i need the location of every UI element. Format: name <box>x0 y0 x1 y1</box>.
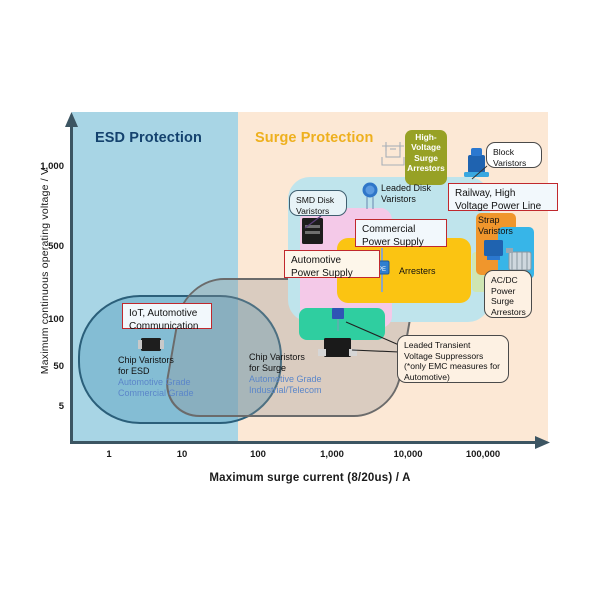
strap-varistors-label: Strap Varistors <box>478 215 518 237</box>
railway-high-voltage-power-line-box[interactable]: Railway, High Voltage Power Line <box>448 183 558 211</box>
green-cluster-blob <box>299 308 385 340</box>
x-tick-10000: 10,000 <box>378 449 438 460</box>
y-tick-5: 5 <box>18 401 64 412</box>
automotive-power-supply-box[interactable]: Automotive Power Supply <box>284 250 380 278</box>
chip-varistors-surge-label: Chip Varistors for Surge Automotive Grad… <box>249 352 361 396</box>
x-tick-100: 100 <box>228 449 288 460</box>
arresters-label: Arresters <box>399 266 436 277</box>
x-tick-1000: 1,000 <box>302 449 362 460</box>
esd-section-title: ESD Protection <box>95 130 202 146</box>
x-tick-100000: 100,000 <box>453 449 513 460</box>
smd-disk-varistors-callout[interactable]: SMD Disk Varistors <box>289 190 347 216</box>
hv-surge-arrestors-label: High- Voltage Surge Arrestors <box>405 132 447 173</box>
x-tick-10: 10 <box>152 449 212 460</box>
leaded-disk-varistors-label: Leaded Disk Varistors <box>381 183 443 205</box>
y-axis-title: Maximum continuous operating voltage / V <box>39 156 51 386</box>
diagram-canvas: ESD Protection Surge Protection High- Vo… <box>0 0 600 600</box>
x-axis-title: Maximum surge current (8/20us) / A <box>150 472 470 484</box>
iot-automotive-communication-box[interactable]: IoT, Automotive Communication <box>122 303 212 329</box>
surge-section-title: Surge Protection <box>255 130 373 146</box>
acdc-power-surge-arrestors-callout[interactable]: AC/DC Power Surge Arrestors <box>484 270 532 318</box>
x-tick-1: 1 <box>79 449 139 460</box>
block-varistors-callout[interactable]: Block Varistors <box>486 142 542 168</box>
leaded-transient-voltage-suppressors-callout[interactable]: Leaded Transient Voltage Suppressors (*o… <box>397 335 509 383</box>
commercial-power-supply-box[interactable]: Commercial Power Supply <box>355 219 447 247</box>
chip-varistors-esd-label: Chip Varistors for ESD Automotive Grade … <box>118 355 228 399</box>
